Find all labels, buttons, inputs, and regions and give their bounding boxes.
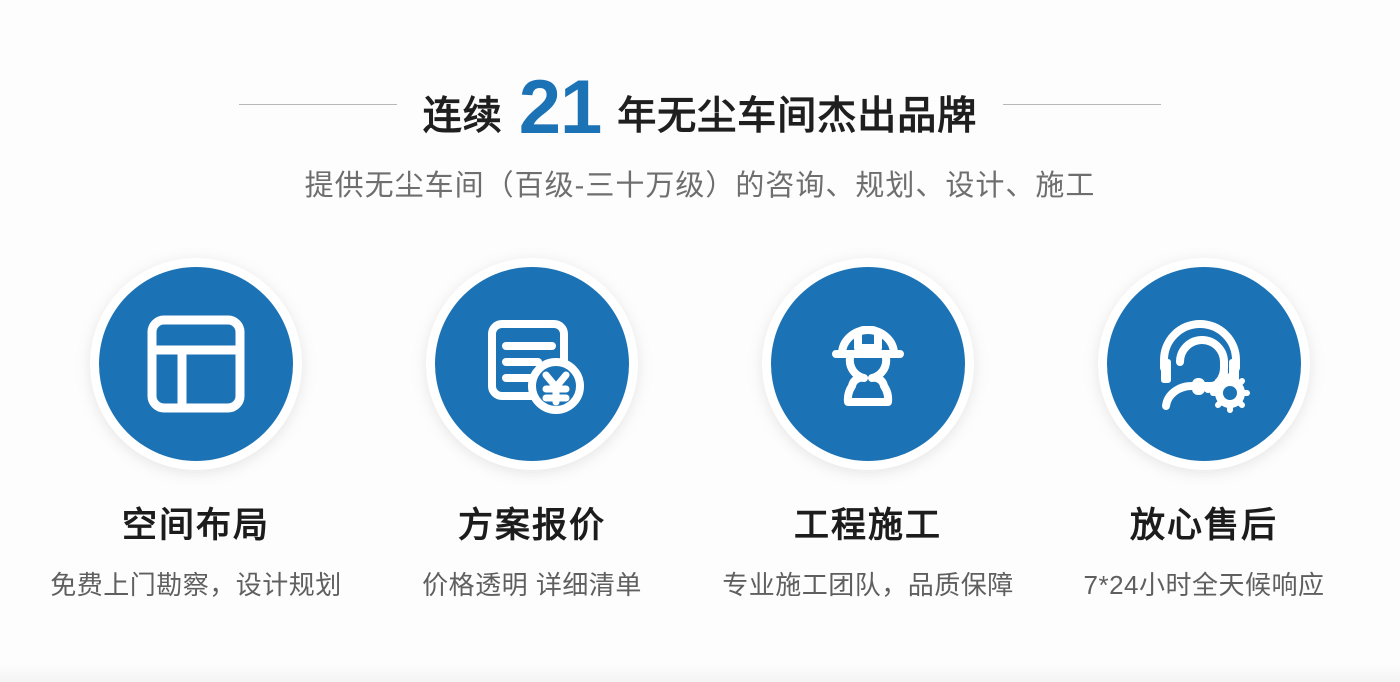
- headset-support-gear-icon: [1150, 310, 1258, 418]
- feature-item-quotation[interactable]: 方案报价 价格透明 详细清单: [377, 258, 687, 602]
- feature-title: 空间布局: [122, 497, 270, 548]
- icon-circle: [435, 267, 629, 461]
- feature-desc: 免费上门勘察，设计规划: [50, 565, 342, 602]
- headline-suffix: 年无尘车间杰出品牌: [617, 97, 977, 136]
- feature-item-space-layout[interactable]: 空间布局 免费上门勘察，设计规划: [41, 258, 351, 602]
- feature-desc: 7*24小时全天候响应: [1084, 565, 1325, 602]
- feature-desc: 专业施工团队，品质保障: [722, 565, 1014, 602]
- icon-circle: [99, 267, 293, 461]
- headline-number: 21: [519, 70, 602, 146]
- feature-item-after-sales[interactable]: 放心售后 7*24小时全天候响应: [1049, 258, 1359, 602]
- icon-circle: [1107, 267, 1301, 461]
- subheadline: 提供无尘车间（百级-三十万级）的咨询、规划、设计、施工: [305, 162, 1096, 204]
- hardhat-worker-icon: [816, 312, 920, 416]
- feature-list: 空间布局 免费上门勘察，设计规划: [0, 258, 1400, 602]
- headline-block: 连续 21 年无尘车间杰出品牌 提供无尘车间（百级-三十万级）的咨询、规划、设计…: [0, 62, 1400, 204]
- feature-item-construction[interactable]: 工程施工 专业施工团队，品质保障: [713, 258, 1023, 602]
- icon-circle-wrap: [426, 258, 638, 470]
- headline-text: 连续 21 年无尘车间杰出品牌: [423, 66, 978, 142]
- bottom-gradient: [0, 664, 1400, 682]
- headline-rule-right: [1003, 104, 1161, 105]
- feature-title: 方案报价: [458, 497, 606, 548]
- layout-grid-icon: [144, 312, 248, 416]
- headline-row: 连续 21 年无尘车间杰出品牌: [239, 62, 1162, 146]
- feature-title: 放心售后: [1130, 497, 1278, 548]
- icon-circle-wrap: [1098, 258, 1310, 470]
- headline-rule-left: [239, 104, 397, 105]
- icon-circle-wrap: [90, 258, 302, 470]
- icon-circle: [771, 267, 965, 461]
- icon-circle-wrap: [762, 258, 974, 470]
- feature-title: 工程施工: [794, 497, 942, 548]
- headline-prefix: 连续: [423, 97, 503, 136]
- document-yuan-quote-icon: [478, 310, 586, 418]
- feature-desc: 价格透明 详细清单: [422, 565, 642, 602]
